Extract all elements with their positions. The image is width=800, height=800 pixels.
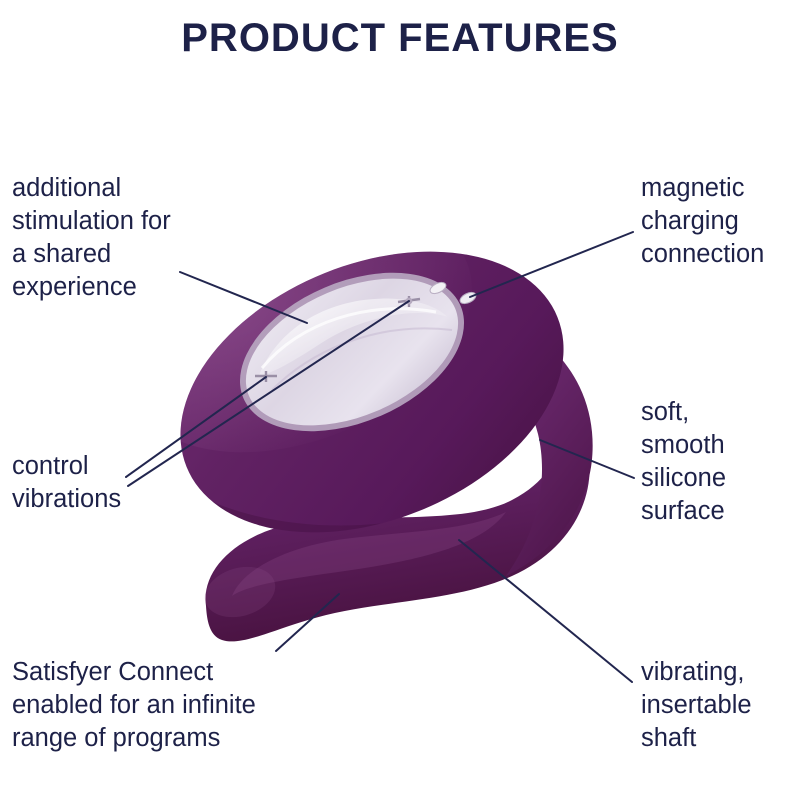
leader-magnetic-charging bbox=[470, 232, 633, 297]
product-arm bbox=[446, 312, 593, 576]
leader-satisfyer-connect bbox=[276, 594, 339, 651]
leader-soft-silicone bbox=[540, 440, 634, 478]
callout-vibrating-shaft: vibrating, insertable shaft bbox=[641, 656, 800, 755]
magnetic-charging-contacts bbox=[428, 280, 477, 306]
callout-satisfyer-connect: Satisfyer Connect enabled for an infinit… bbox=[12, 656, 352, 755]
control-button-marks bbox=[255, 296, 420, 382]
product-features-infographic: PRODUCT FEATURES bbox=[0, 0, 800, 800]
callout-additional-stimulation: additional stimulation for a shared expe… bbox=[12, 172, 282, 304]
leader-vibrating-shaft bbox=[459, 540, 632, 682]
page-title: PRODUCT FEATURES bbox=[0, 16, 800, 60]
callout-control-vibrations: control vibrations bbox=[12, 450, 262, 516]
callout-magnetic-charging: magnetic charging connection bbox=[641, 172, 800, 271]
callout-soft-smooth-silicone: soft, smooth silicone surface bbox=[641, 396, 800, 528]
